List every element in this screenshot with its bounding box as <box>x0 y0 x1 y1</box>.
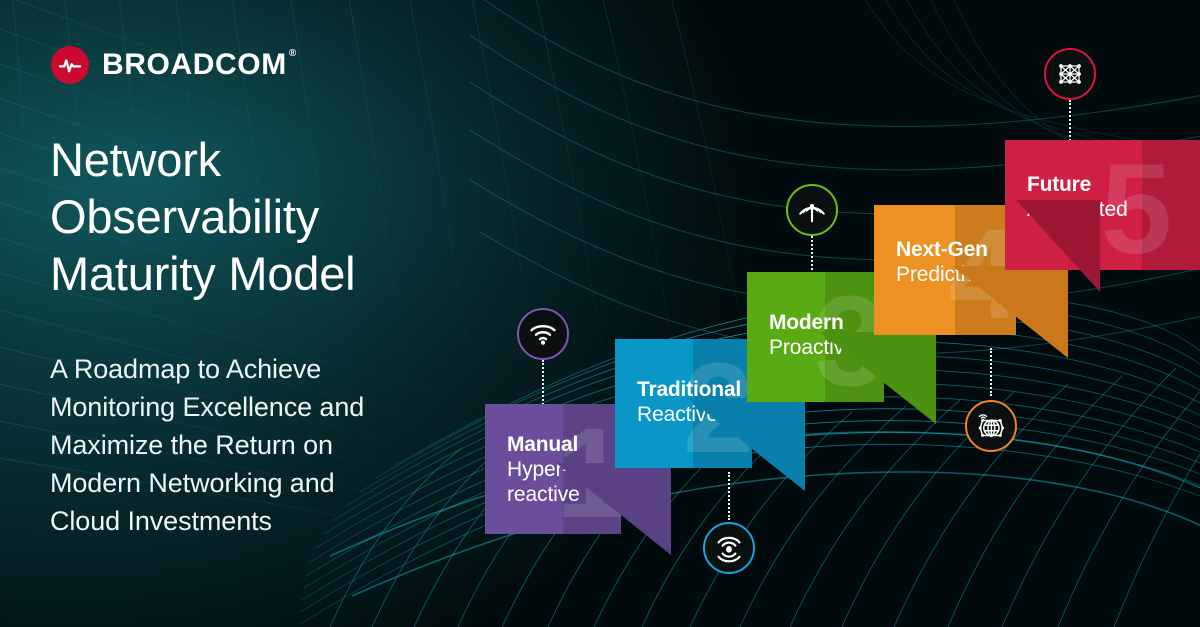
subtitle-line-5: Cloud Investments <box>50 502 480 540</box>
pulse-wave-icon <box>51 46 89 84</box>
stage-tail-svg-traditional <box>688 398 805 491</box>
stage-name-future: Future <box>1027 172 1128 197</box>
stage-tail-svg-future <box>1016 200 1100 292</box>
title-line-1: Network <box>50 131 530 188</box>
stage-tail-svg-manual <box>556 463 671 555</box>
radio-tower-icon <box>797 195 827 225</box>
broadcom-logo: BROADCOM ® <box>51 46 287 84</box>
stage-icon-badge-manual[interactable] <box>517 308 569 360</box>
registered-mark: ® <box>289 49 297 59</box>
subtitle-line-1: A Roadmap to Achieve <box>50 350 480 388</box>
broadcast-signal-icon <box>715 533 743 563</box>
stage-icon-badge-traditional[interactable] <box>703 522 755 574</box>
broadcom-wordmark: BROADCOM ® <box>102 50 287 80</box>
title-line-3: Maturity Model <box>50 245 530 302</box>
stage-name-next-gen: Next-Gen <box>896 237 988 262</box>
connector-line-stage-5 <box>1069 100 1071 144</box>
stage-icon-badge-next-gen[interactable] <box>965 400 1017 452</box>
connector-line-stage-1 <box>542 360 544 405</box>
stage-name-manual: Manual <box>507 432 580 457</box>
logo-text: BROADCOM <box>102 48 287 81</box>
stage-tail-svg-modern <box>820 332 936 424</box>
mesh-nodes-icon <box>1055 59 1085 89</box>
wifi-icon <box>529 323 557 345</box>
infographic-canvas: BROADCOM ® Network Observability Maturit… <box>0 0 1200 627</box>
stage-icon-badge-modern[interactable] <box>786 184 838 236</box>
page-title: Network Observability Maturity Model <box>50 131 530 302</box>
page-subtitle: A Roadmap to Achieve Monitoring Excellen… <box>50 350 480 540</box>
stage-icon-badge-future[interactable] <box>1044 48 1096 100</box>
subtitle-line-4: Modern Networking and <box>50 464 480 502</box>
subtitle-line-2: Monitoring Excellence and <box>50 388 480 426</box>
title-line-2: Observability <box>50 188 530 245</box>
subtitle-line-3: Maximize the Return on <box>50 426 480 464</box>
globe-network-icon <box>975 410 1007 442</box>
